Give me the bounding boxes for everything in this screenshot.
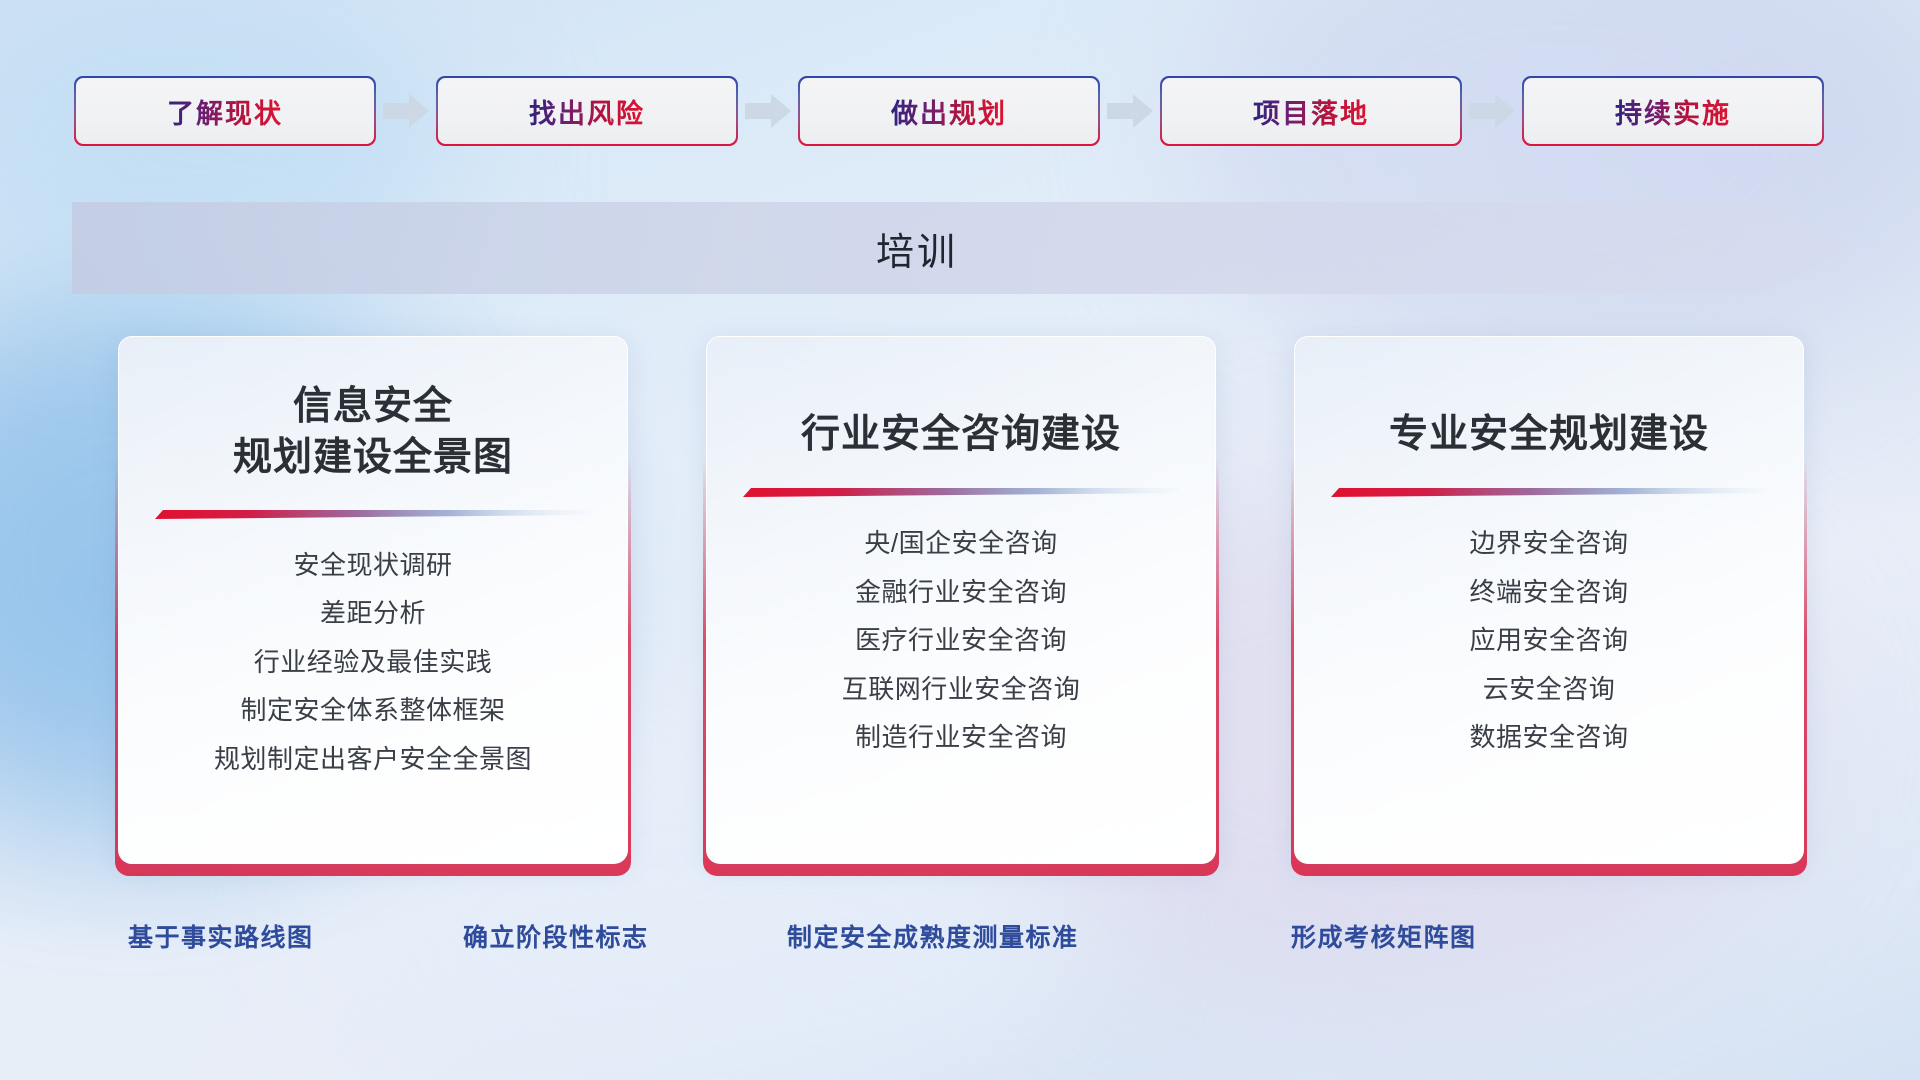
gradient-accent-bar-icon [1331, 488, 1767, 497]
card-surface: 信息安全 规划建设全景图 [118, 336, 628, 864]
card-list: 央/国企安全咨询 金融行业安全咨询 医疗行业安全咨询 互联网行业安全咨询 制造行… [707, 527, 1215, 754]
step-box-inner: 做出规划 [800, 78, 1099, 145]
card-title-line: 规划建设全景图 [137, 432, 609, 483]
card-3[interactable]: 专业安全规划建设 [1288, 336, 1810, 876]
step-box-3[interactable]: 做出规划 [798, 76, 1100, 146]
step-arrow-icon-1 [376, 91, 436, 131]
card-title: 信息安全 规划建设全景图 [119, 381, 627, 484]
footer-label-4: 形成考核矩阵图 [1291, 918, 1477, 954]
list-item: 边界安全咨询 [1469, 527, 1628, 560]
list-item: 金融行业安全咨询 [855, 576, 1067, 609]
card-title-line: 专业安全规划建设 [1313, 409, 1785, 460]
step-label: 了解现状 [167, 92, 283, 131]
step-box-inner: 找出风险 [438, 78, 737, 145]
step-label: 持续实施 [1615, 92, 1731, 131]
card-title-line: 信息安全 [137, 381, 609, 432]
card-title-line: 行业安全咨询建设 [725, 409, 1197, 460]
card-title: 行业安全咨询建设 [707, 409, 1215, 460]
training-banner: 培训 [72, 202, 1854, 294]
list-item: 制定安全体系整体框架 [240, 694, 505, 727]
step-label: 找出风险 [529, 92, 645, 131]
step-box-1[interactable]: 了解现状 [74, 76, 376, 146]
slide-canvas: 了解现状 找出风险 做出规划 [0, 0, 1920, 1080]
card-1[interactable]: 信息安全 规划建设全景图 [112, 336, 634, 876]
card-surface: 专业安全规划建设 [1294, 336, 1804, 864]
step-box-4[interactable]: 项目落地 [1160, 76, 1462, 146]
list-item: 差距分析 [320, 597, 426, 630]
list-item: 制造行业安全咨询 [855, 721, 1067, 754]
card-list: 安全现状调研 差距分析 行业经验及最佳实践 制定安全体系整体框架 规划制定出客户… [119, 549, 627, 776]
list-item: 央/国企安全咨询 [864, 527, 1057, 560]
banner-label: 培训 [72, 202, 1762, 294]
card-title: 专业安全规划建设 [1295, 409, 1803, 460]
list-item: 行业经验及最佳实践 [254, 646, 493, 679]
step-box-2[interactable]: 找出风险 [436, 76, 738, 146]
step-arrow-icon-3 [1100, 91, 1160, 131]
footer-label-2: 确立阶段性标志 [463, 918, 649, 954]
footer-label-3: 制定安全成熟度测量标准 [787, 918, 1079, 954]
footer-label-row: 基于事实路线图 确立阶段性标志 制定安全成熟度测量标准 形成考核矩阵图 [0, 918, 1920, 962]
list-item: 互联网行业安全咨询 [842, 673, 1081, 706]
step-label: 做出规划 [891, 92, 1007, 131]
list-item: 应用安全咨询 [1469, 624, 1628, 657]
step-box-inner: 了解现状 [76, 78, 375, 145]
step-arrow-icon-2 [738, 91, 798, 131]
gradient-accent-bar-icon [155, 510, 591, 519]
list-item: 终端安全咨询 [1469, 576, 1628, 609]
footer-label-1: 基于事实路线图 [128, 918, 314, 954]
step-box-inner: 项目落地 [1162, 78, 1461, 145]
card-2[interactable]: 行业安全咨询建设 [700, 336, 1222, 876]
list-item: 数据安全咨询 [1469, 721, 1628, 754]
card-list: 边界安全咨询 终端安全咨询 应用安全咨询 云安全咨询 数据安全咨询 [1295, 527, 1803, 754]
list-item: 医疗行业安全咨询 [855, 624, 1067, 657]
card-row: 信息安全 规划建设全景图 [112, 336, 1812, 876]
list-item: 规划制定出客户安全全景图 [214, 743, 532, 776]
card-surface: 行业安全咨询建设 [706, 336, 1216, 864]
step-arrow-icon-4 [1462, 91, 1522, 131]
list-item: 云安全咨询 [1483, 673, 1616, 706]
step-box-5[interactable]: 持续实施 [1522, 76, 1824, 146]
step-box-inner: 持续实施 [1524, 78, 1823, 145]
step-label: 项目落地 [1253, 92, 1369, 131]
gradient-accent-bar-icon [743, 488, 1179, 497]
list-item: 安全现状调研 [293, 549, 452, 582]
process-step-row: 了解现状 找出风险 做出规划 [74, 76, 1849, 146]
